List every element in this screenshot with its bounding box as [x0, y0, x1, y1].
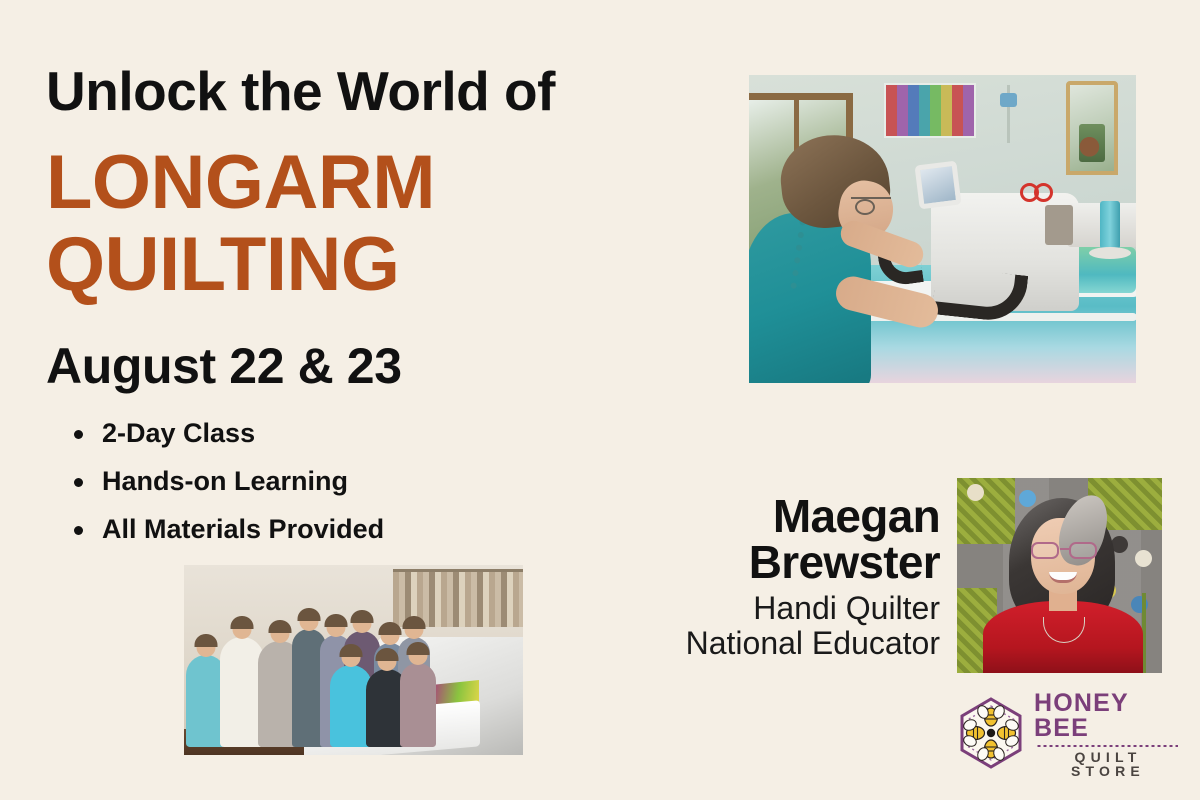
- person: [400, 663, 436, 747]
- framed-picture: [1066, 81, 1118, 175]
- hanging-mobile: [1007, 85, 1010, 143]
- headline-accent-line-2: QUILTING: [46, 224, 696, 305]
- event-date: August 22 & 23: [46, 337, 402, 395]
- speaker-role-line-1: Handi Quilter: [560, 591, 940, 626]
- honey-bee-quilt-store-logo[interactable]: HONEY BEE QUILT STORE: [958, 697, 1178, 769]
- glasses-bridge: [1060, 548, 1069, 550]
- lens-left: [1031, 542, 1059, 559]
- feature-bullet-list: 2-Day Class Hands-on Learning All Materi…: [68, 420, 384, 564]
- speaker-role-line-2: National Educator: [560, 626, 940, 661]
- thread-spool: [1100, 201, 1120, 249]
- logo-secondary-text: QUILT STORE: [1034, 750, 1178, 778]
- list-item: All Materials Provided: [68, 516, 384, 543]
- logo-wordmark: HONEY BEE QUILT STORE: [1034, 689, 1178, 778]
- applique-flower: [1135, 550, 1152, 567]
- machine-touchscreen: [914, 161, 961, 210]
- headline-intro-line: Unlock the World of: [46, 62, 696, 120]
- list-item: Hands-on Learning: [68, 468, 384, 495]
- logo-primary-text: HONEY BEE: [1034, 691, 1178, 741]
- headline-accent-line-1: LONGARM: [46, 142, 696, 223]
- speaker-info-block: Maegan Brewster Handi Quilter National E…: [560, 494, 940, 661]
- wall-quilt-sampler: [884, 83, 976, 138]
- speaker-headshot-photo: [957, 478, 1162, 673]
- headline-block: Unlock the World of LONGARM QUILTING: [46, 62, 696, 305]
- headline-accent-block: LONGARM QUILTING: [46, 142, 696, 305]
- speaker-name: Maegan Brewster: [560, 494, 940, 585]
- applique-flower: [967, 484, 984, 501]
- list-item: 2-Day Class: [68, 420, 384, 447]
- applique-flower: [1019, 490, 1036, 507]
- speaker-last-name: Brewster: [560, 540, 940, 586]
- class-attendees-group: [184, 587, 434, 747]
- speaker-role: Handi Quilter National Educator: [560, 591, 940, 661]
- honeycomb-bee-hexagon-icon: [958, 697, 1024, 769]
- logo-dotted-divider: [1036, 744, 1178, 748]
- speaker-first-name: Maegan: [560, 494, 940, 540]
- quilter-person: [749, 135, 913, 383]
- lens-right: [1069, 542, 1097, 559]
- eyeglasses: [851, 197, 891, 210]
- eyeglasses: [1029, 542, 1099, 559]
- scissors-icon: [1020, 183, 1050, 197]
- longarm-machine-photo: [749, 75, 1136, 383]
- group-class-photo: [184, 565, 523, 755]
- flyer-canvas: Unlock the World of LONGARM QUILTING Aug…: [0, 0, 1200, 800]
- quilt-green-patch: [957, 478, 1015, 544]
